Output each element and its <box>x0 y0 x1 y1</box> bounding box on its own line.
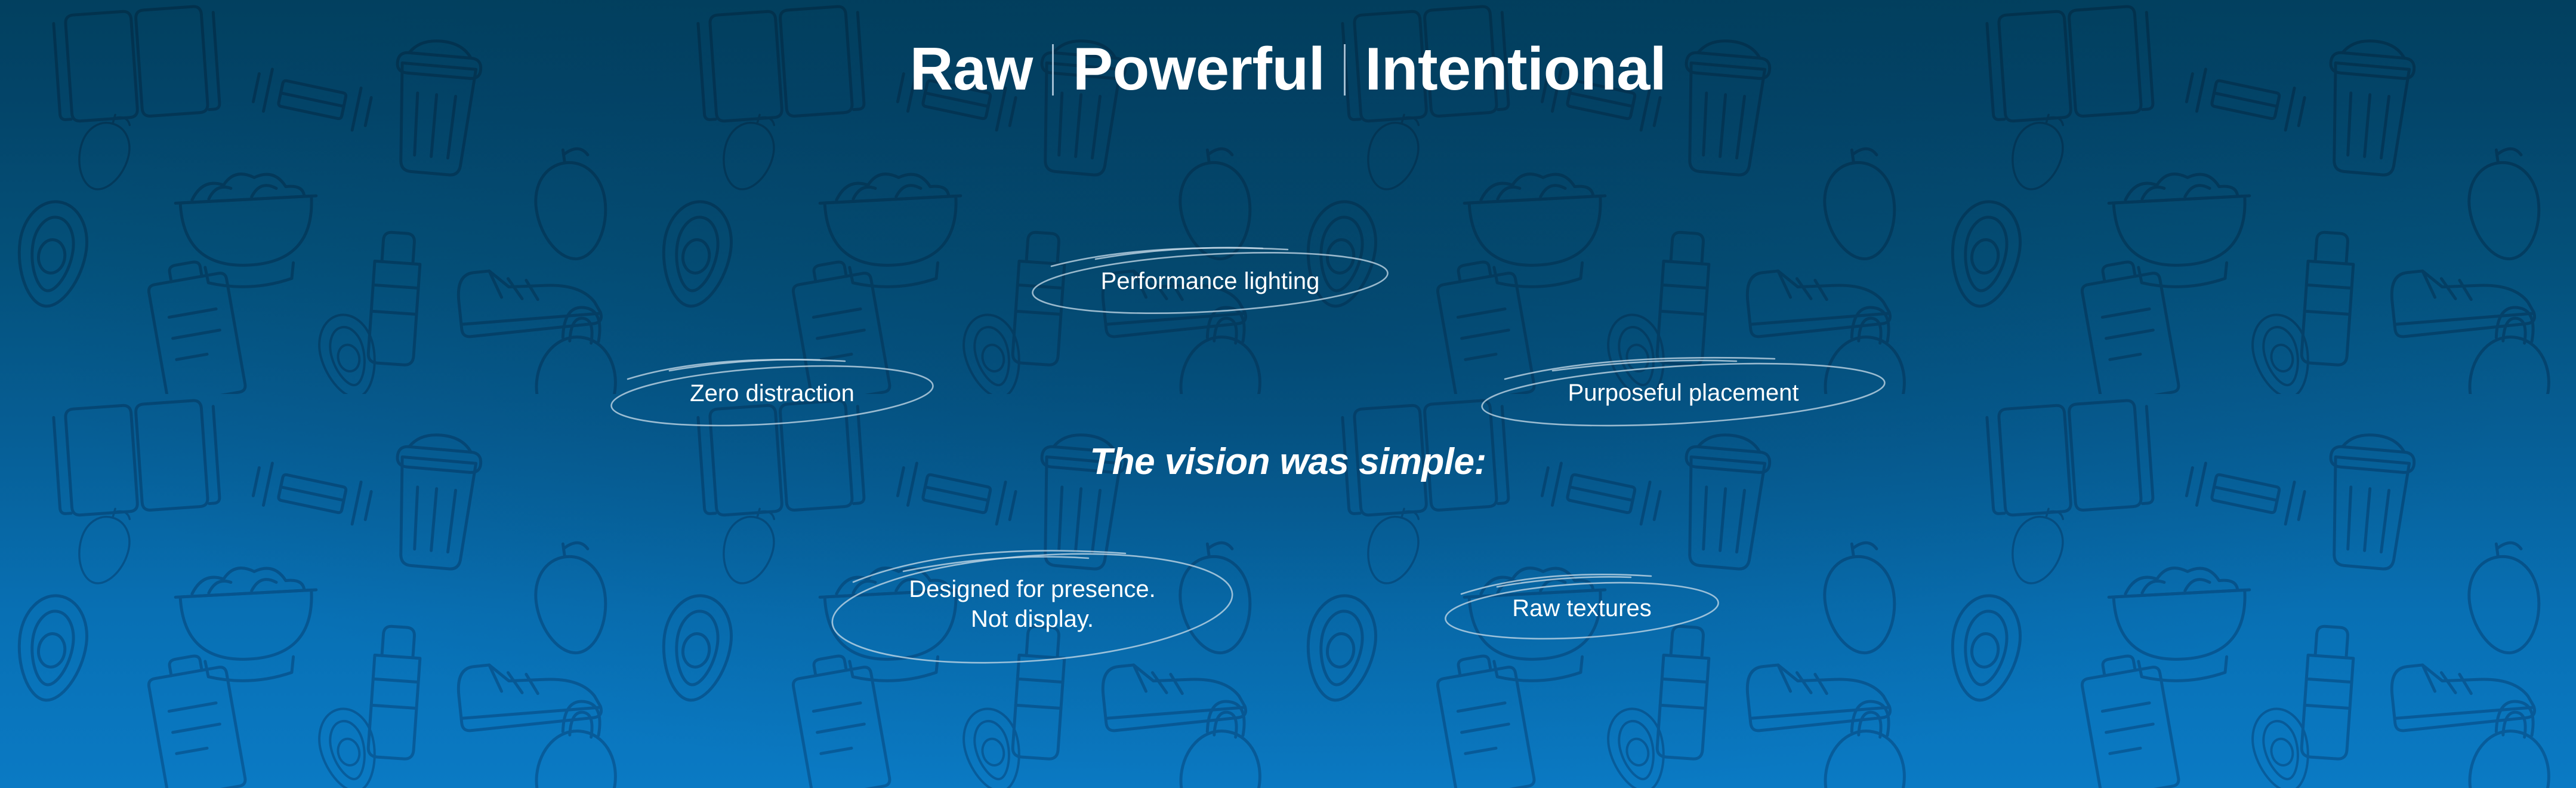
pill-zero-distraction: Zero distraction <box>607 359 937 428</box>
page-title: Raw Powerful Intentional <box>0 36 2576 103</box>
headline-word-intentional: Intentional <box>1346 36 1685 103</box>
headline-word-raw: Raw <box>891 36 1052 103</box>
headline-word-powerful: Powerful <box>1054 36 1344 103</box>
pill-label: Purposeful placement <box>1568 378 1799 408</box>
background-pattern <box>0 0 2576 788</box>
pill-label: Raw textures <box>1512 593 1651 623</box>
tagline: The vision was simple: <box>0 441 2576 483</box>
vignette-overlay <box>0 0 2576 788</box>
pill-performance-lighting: Performance lighting <box>1029 246 1392 316</box>
pill-purposeful-placement: Purposeful placement <box>1477 358 1889 428</box>
pill-label: Performance lighting <box>1101 266 1320 296</box>
pill-raw-textures: Raw textures <box>1442 575 1722 642</box>
pill-designed-for-presence: Designed for presence. Not display. <box>827 545 1238 663</box>
hero-banner: Raw Powerful Intentional Performance lig… <box>0 0 2576 788</box>
pill-label: Designed for presence. Not display. <box>909 574 1156 635</box>
tagline-text: The vision was simple: <box>1090 441 1486 482</box>
pill-label: Zero distraction <box>690 378 854 408</box>
